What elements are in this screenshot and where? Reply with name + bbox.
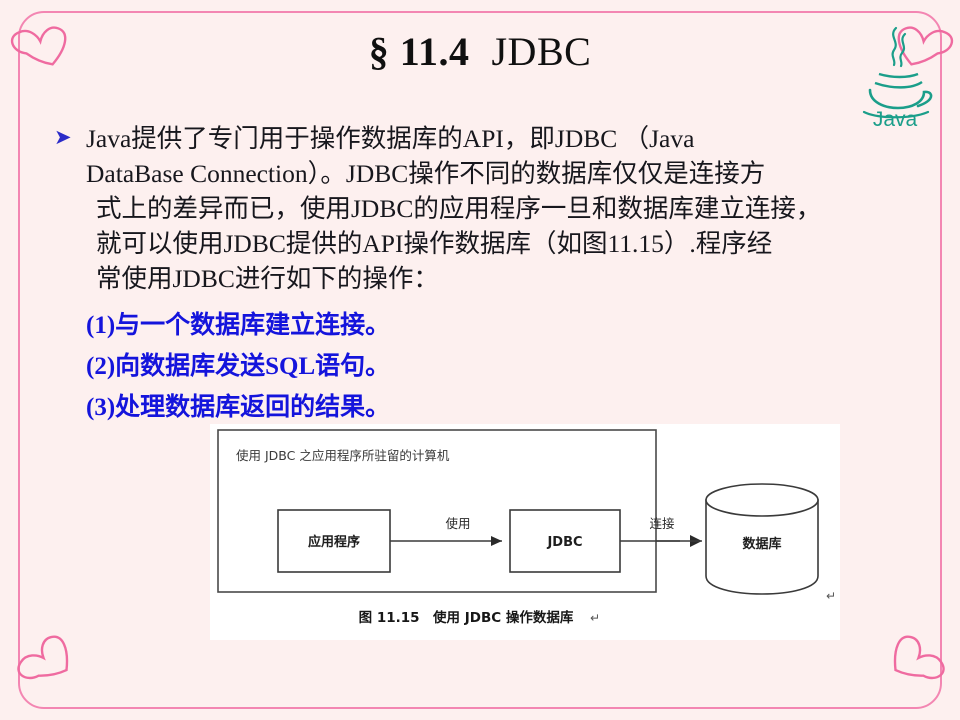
paragraph-line-5: 常使用JDBC进行如下的操作： bbox=[52, 261, 872, 296]
steps-list: (1)与一个数据库建立连接。 (2)向数据库发送SQL语句。 (3)处理数据库返… bbox=[86, 310, 786, 433]
figure-node-db-label: 数据库 bbox=[742, 536, 781, 552]
step-item-1: (1)与一个数据库建立连接。 bbox=[86, 310, 786, 341]
figure-arrow-connect-label: 连接 bbox=[649, 516, 675, 531]
paragraph-line-2: DataBase Connection）。JDBC操作不同的数据库仅仅是连接方 bbox=[52, 156, 872, 191]
java-logo: Java bbox=[852, 22, 938, 128]
paragraph-text-2: DataBase Connection）。JDBC操作不同的数据库仅仅是连接方 bbox=[86, 156, 872, 191]
paragraph-line-4: 就可以使用JDBC提供的API操作数据库（如图11.15）.程序经 bbox=[52, 226, 872, 261]
step-item-2: (2)向数据库发送SQL语句。 bbox=[86, 351, 786, 382]
figure-caption: 图 11.15 使用 JDBC 操作数据库 bbox=[359, 609, 574, 626]
title-topic: JDBC bbox=[491, 29, 591, 74]
figure-node-app-label: 应用程序 bbox=[308, 534, 360, 550]
title-section-mark: § 11.4 bbox=[369, 29, 470, 74]
slide-title: § 11.4JDBC bbox=[0, 28, 960, 75]
step-item-3: (3)处理数据库返回的结果。 bbox=[86, 392, 786, 423]
figure-arrow-use-head bbox=[491, 536, 502, 546]
figure-image: 使用 JDBC 之应用程序所驻留的计算机 应用程序 使用 JDBC 连接 数据库 bbox=[210, 424, 840, 640]
paragraph-text-4: 就可以使用JDBC提供的API操作数据库（如图11.15）.程序经 bbox=[96, 226, 872, 261]
figure-pilcrow-2: ↵ bbox=[590, 611, 600, 625]
figure-node-jdbc-label: JDBC bbox=[546, 535, 582, 550]
paragraph-text-3: 式上的差异而已，使用JDBC的应用程序一旦和数据库建立连接， bbox=[96, 191, 872, 226]
java-logo-wordmark: Java bbox=[873, 108, 918, 128]
paragraph-line-1: ➤ Java提供了专门用于操作数据库的API，即JDBC （Java bbox=[52, 121, 872, 156]
figure-arrow-use-label: 使用 bbox=[445, 516, 470, 531]
paragraph-line-3: 式上的差异而已，使用JDBC的应用程序一旦和数据库建立连接， bbox=[52, 191, 872, 226]
body-paragraph-block: ➤ Java提供了专门用于操作数据库的API，即JDBC （Java DataB… bbox=[52, 121, 872, 296]
figure-pilcrow-1: ↵ bbox=[826, 589, 836, 603]
slide-canvas: § 11.4JDBC Java ➤ Java提供了专门用于操作数据库的API，即… bbox=[0, 0, 960, 720]
figure-container-label: 使用 JDBC 之应用程序所驻留的计算机 bbox=[236, 448, 450, 463]
paragraph-text-5: 常使用JDBC进行如下的操作： bbox=[96, 261, 872, 296]
arrow-bullet-icon: ➤ bbox=[54, 126, 76, 148]
paragraph-text-1: Java提供了专门用于操作数据库的API，即JDBC （Java bbox=[86, 121, 872, 156]
